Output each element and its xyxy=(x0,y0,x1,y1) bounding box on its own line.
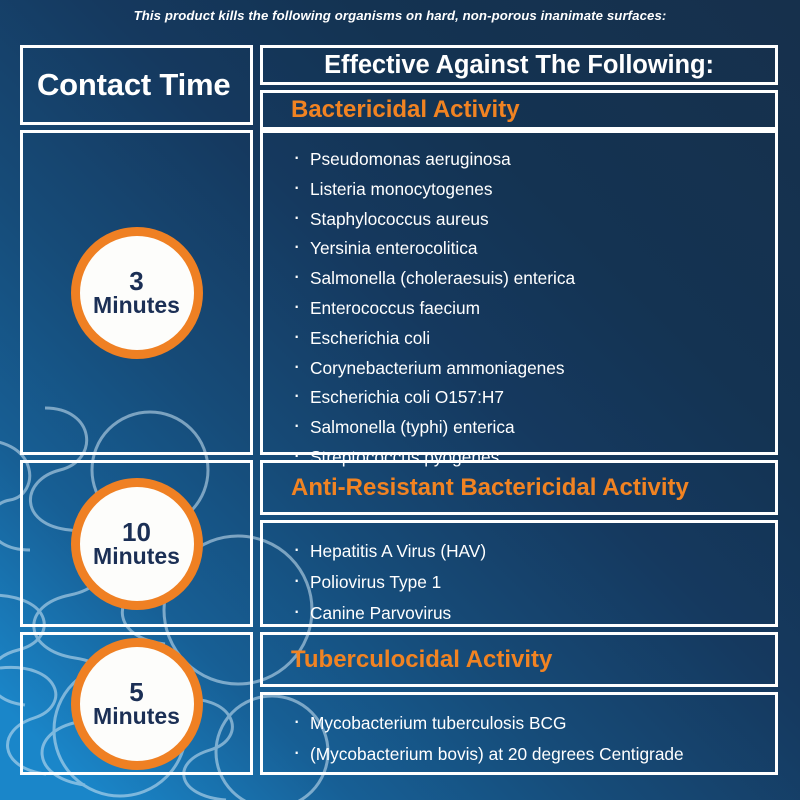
section-title-cell-bactericidal: Bactericidal Activity xyxy=(260,90,778,130)
section-title-label: Tuberculocidal Activity xyxy=(263,646,552,674)
organism-list-row-3: Mycobacterium tuberculosis BCG (Mycobact… xyxy=(263,695,775,765)
effective-against-header-label: Effective Against The Following: xyxy=(324,51,714,80)
section-title-label: Bactericidal Activity xyxy=(263,96,520,124)
poster-caption: This product kills the following organis… xyxy=(0,8,800,23)
organism-list-cell-row-2: Hepatitis A Virus (HAV) Poliovirus Type … xyxy=(260,520,778,627)
list-item: Salmonella (typhi) enterica xyxy=(293,417,775,438)
organism-list-cell-row-1: Pseudomonas aeruginosa Listeria monocyto… xyxy=(260,130,778,455)
list-item: Escherichia coli xyxy=(293,328,775,349)
organism-list-cell-row-3: Mycobacterium tuberculosis BCG (Mycobact… xyxy=(260,692,778,775)
list-item: Staphylococcus aureus xyxy=(293,209,775,230)
list-item: Hepatitis A Virus (HAV) xyxy=(293,541,775,562)
list-item: Listeria monocytogenes xyxy=(293,179,775,200)
efficacy-table: Contact Time Effective Against The Follo… xyxy=(20,45,778,775)
organism-list-row-2: Hepatitis A Virus (HAV) Poliovirus Type … xyxy=(263,523,775,624)
list-item: Canine Parvovirus xyxy=(293,603,775,624)
list-item: Enterococcus faecium xyxy=(293,298,775,319)
list-item: Poliovirus Type 1 xyxy=(293,572,775,593)
contact-time-cell-row-3: 5 Minutes xyxy=(20,632,253,775)
contact-time-unit: Minutes xyxy=(93,545,180,568)
efficacy-poster: This product kills the following organis… xyxy=(0,0,800,800)
contact-time-cell-row-1: 3 Minutes xyxy=(20,130,253,455)
list-item: Corynebacterium ammoniagenes xyxy=(293,358,775,379)
contact-time-header-cell: Contact Time xyxy=(20,45,253,125)
list-item: Mycobacterium tuberculosis BCG xyxy=(293,713,775,734)
contact-time-badge-3-minutes: 3 Minutes xyxy=(71,227,203,359)
contact-time-value: 10 xyxy=(122,519,151,546)
list-item: Pseudomonas aeruginosa xyxy=(293,149,775,170)
effective-against-header-cell: Effective Against The Following: xyxy=(260,45,778,85)
contact-time-unit: Minutes xyxy=(93,705,180,728)
section-title-cell-anti-resistant: Anti-Resistant Bactericidal Activity xyxy=(260,460,778,515)
contact-time-badge-5-minutes: 5 Minutes xyxy=(71,638,203,770)
contact-time-badge-10-minutes: 10 Minutes xyxy=(71,478,203,610)
list-item: (Mycobacterium bovis) at 20 degrees Cent… xyxy=(293,744,775,765)
list-item: Yersinia enterocolitica xyxy=(293,238,775,259)
contact-time-header-label: Contact Time xyxy=(23,67,230,103)
section-title-label: Anti-Resistant Bactericidal Activity xyxy=(263,474,689,502)
list-item: Escherichia coli O157:H7 xyxy=(293,387,775,408)
contact-time-value: 5 xyxy=(129,679,143,706)
section-title-cell-tuberculocidal: Tuberculocidal Activity xyxy=(260,632,778,687)
list-item: Salmonella (choleraesuis) enterica xyxy=(293,268,775,289)
organism-list-row-1: Pseudomonas aeruginosa Listeria monocyto… xyxy=(263,133,775,468)
contact-time-cell-row-2: 10 Minutes xyxy=(20,460,253,627)
contact-time-value: 3 xyxy=(129,268,143,295)
contact-time-unit: Minutes xyxy=(93,294,180,317)
